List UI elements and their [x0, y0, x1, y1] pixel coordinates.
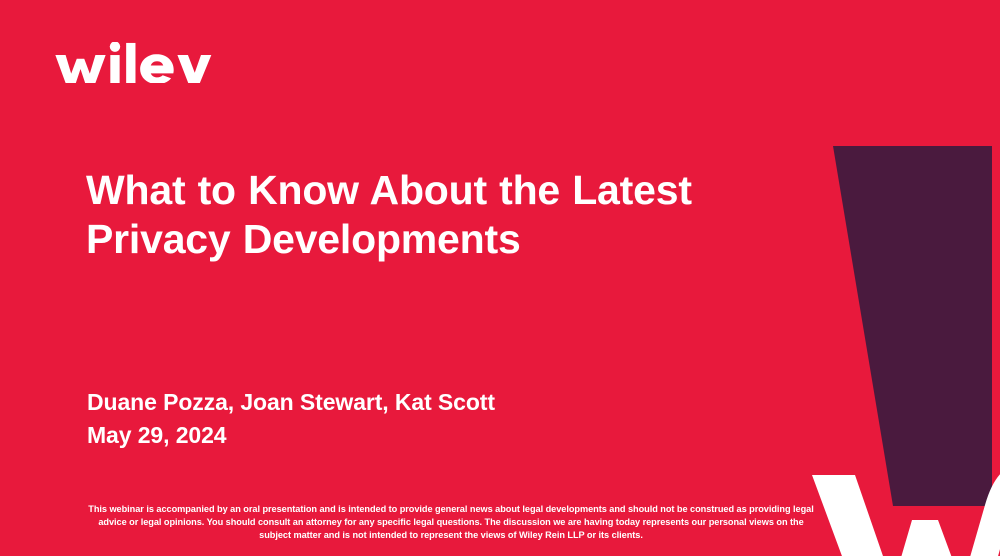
- wiley-w-watermark: [812, 462, 1000, 556]
- decorative-graphics: [0, 0, 1000, 556]
- presenter-names: Duane Pozza, Joan Stewart, Kat Scott: [87, 386, 807, 419]
- presentation-date: May 29, 2024: [87, 419, 807, 452]
- title-slide: What to Know About the Latest Privacy De…: [0, 0, 1000, 556]
- wiley-logo: [52, 42, 232, 82]
- byline: Duane Pozza, Joan Stewart, Kat Scott May…: [87, 386, 807, 452]
- purple-angle-shape: [833, 146, 992, 506]
- slide-title: What to Know About the Latest Privacy De…: [86, 166, 846, 264]
- wiley-wordmark-glyphs: [55, 42, 211, 83]
- legal-disclaimer: This webinar is accompanied by an oral p…: [88, 503, 814, 542]
